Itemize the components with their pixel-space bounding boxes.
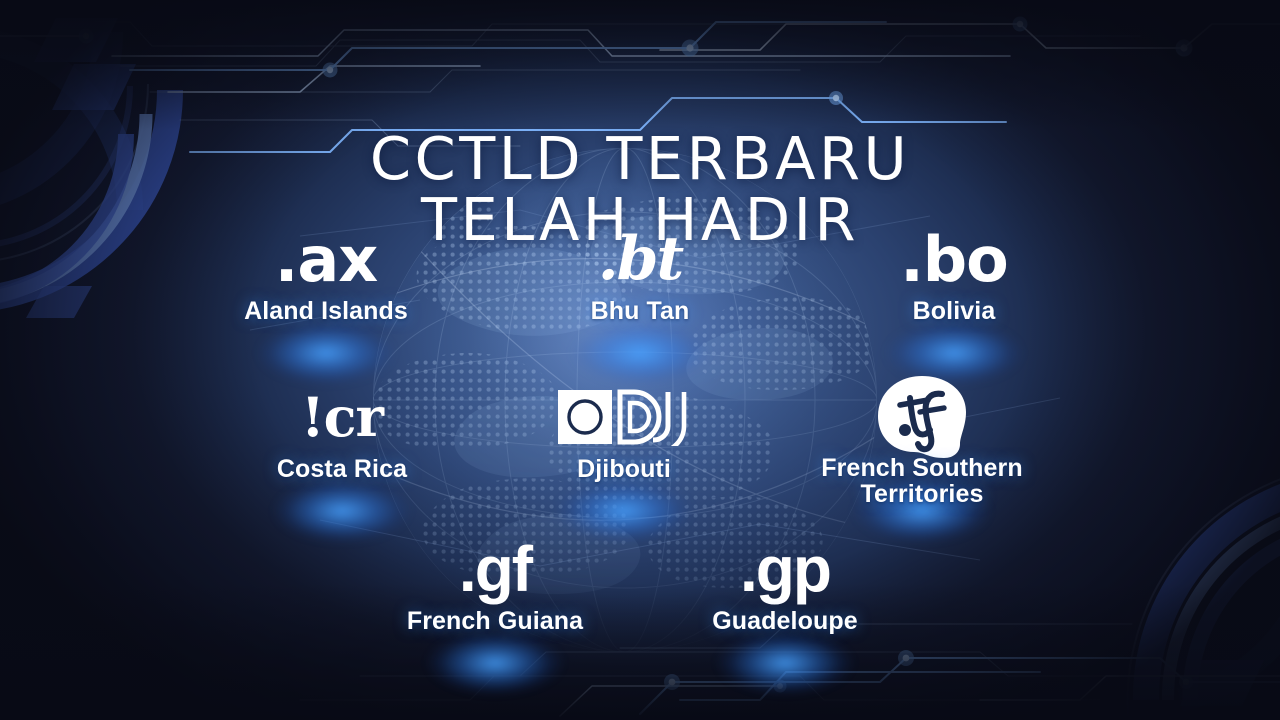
- country-label-tf: French Southern Territories: [797, 456, 1047, 507]
- tld-card-bo[interactable]: .bo Bolivia: [845, 222, 1063, 325]
- tld-row-3: .gf French Guiana .gp Guadeloupe: [0, 532, 1280, 635]
- tld-logo-tf: [876, 380, 968, 454]
- tld-row-2: !cr Costa Rica Djibouti: [0, 380, 1280, 507]
- tld-card-cr[interactable]: !cr Costa Rica: [233, 380, 451, 507]
- country-label-bo: Bolivia: [913, 298, 996, 325]
- headline-line-1: CCTLD TERBARU: [370, 124, 910, 193]
- tld-card-bt[interactable]: .bt Bhu Tan: [531, 222, 749, 325]
- tld-logo-dj: [558, 380, 690, 454]
- country-label-bt: Bhu Tan: [591, 298, 690, 325]
- tld-card-ax[interactable]: .ax Aland Islands: [217, 222, 435, 325]
- tld-logo-bt: .bt: [598, 222, 683, 296]
- tld-logo-ax: .ax: [275, 222, 377, 296]
- tld-logo-gf: .gf: [459, 532, 531, 606]
- country-label-dj: Djibouti: [577, 456, 671, 483]
- tld-card-gf[interactable]: .gf French Guiana: [386, 532, 604, 635]
- dj-logo-icon: [558, 388, 690, 446]
- tld-card-dj[interactable]: Djibouti: [515, 380, 733, 507]
- country-label-gp: Guadeloupe: [712, 608, 857, 635]
- tld-logo-gp: .gp: [740, 532, 830, 606]
- tf-logo-icon: [876, 374, 968, 460]
- tld-card-tf[interactable]: French Southern Territories: [797, 380, 1047, 507]
- tld-logo-bo: .bo: [900, 222, 1008, 296]
- country-label-gf: French Guiana: [407, 608, 583, 635]
- poster-canvas: CCTLD TERBARU TELAH HADIR .ax Aland Isla…: [0, 0, 1280, 720]
- tld-card-gp[interactable]: .gp Guadeloupe: [676, 532, 894, 635]
- country-label-ax: Aland Islands: [244, 298, 408, 325]
- tld-grid: .ax Aland Islands .bt Bhu Tan .bo Bolivi…: [0, 222, 1280, 662]
- tld-row-1: .ax Aland Islands .bt Bhu Tan .bo Bolivi…: [0, 222, 1280, 325]
- tld-logo-cr: !cr: [301, 380, 383, 454]
- country-label-cr: Costa Rica: [277, 456, 407, 483]
